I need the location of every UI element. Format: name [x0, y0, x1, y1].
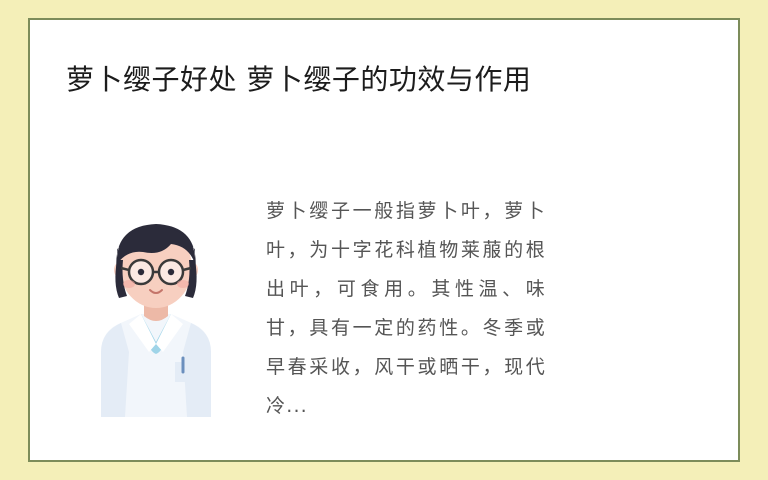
article-card: 萝卜缨子好处 萝卜缨子的功效与作用: [28, 18, 740, 462]
article-content: 萝卜缨子一般指萝卜叶，萝卜叶，为十字花科植物莱菔的根出叶，可食用。其性温、味甘，…: [66, 192, 706, 426]
illustration-container: [66, 192, 246, 417]
page-title: 萝卜缨子好处 萝卜缨子的功效与作用: [66, 60, 696, 101]
page-background: 萝卜缨子好处 萝卜缨子的功效与作用: [0, 0, 768, 480]
article-body: 萝卜缨子一般指萝卜叶，萝卜叶，为十字花科植物莱菔的根出叶，可食用。其性温、味甘，…: [246, 192, 546, 426]
doctor-avatar-icon: [71, 202, 241, 417]
